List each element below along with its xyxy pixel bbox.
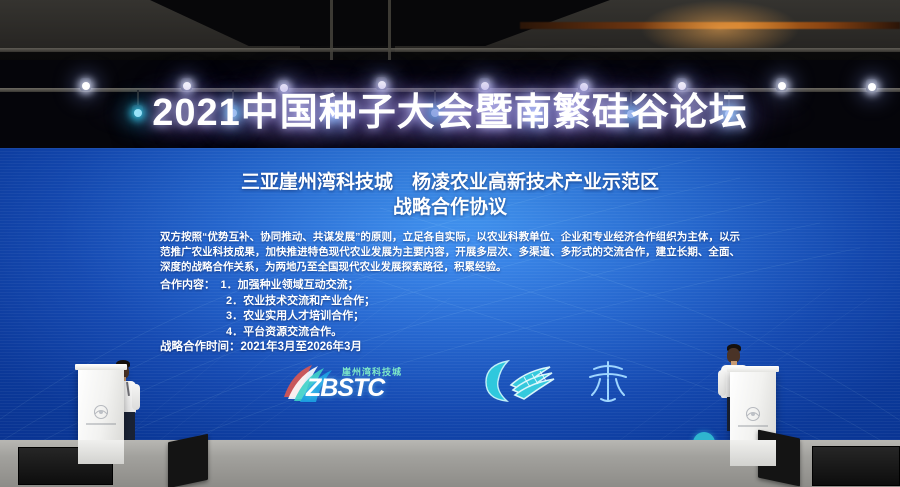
ceiling-column-right [388, 0, 391, 60]
calligraphy-logo [578, 357, 638, 407]
yangling-leaf-logo [478, 355, 568, 407]
ceiling-column-left [330, 0, 333, 60]
led-headline-line2: 战略合作协议 [0, 195, 900, 220]
led-body-paragraph: 双方按照“优势互补、协同推动、共谋发展”的原则，立足各自实际，以农业科教单位、企… [160, 230, 740, 275]
podium-left-emblem-icon [88, 404, 114, 422]
led-cooperation-list: 合作内容： 1．加强种业领域互动交流； 2．农业技术交流和产业合作； 3．农业实… [160, 278, 740, 340]
stage-monitor-left [168, 434, 208, 487]
list-item: 3．农业实用人才培训合作； [160, 309, 740, 325]
floor-speaker-right-outer [812, 446, 900, 486]
list-item: 合作内容： 1．加强种业领域互动交流； [160, 278, 740, 294]
list-item: 2．农业技术交流和产业合作； [160, 294, 740, 310]
stage-photograph: 2021中国种子大会暨南繁硅谷论坛 三亚崖州湾科技城 杨凌 [0, 0, 900, 487]
speaker-left-arm [132, 384, 140, 410]
podium-right-top [727, 366, 779, 372]
podium-left-base [78, 440, 124, 464]
banner-title: 2021中国种子大会暨南繁硅谷论坛 [0, 84, 900, 142]
speaker-right-arm-left [718, 370, 726, 396]
led-screen: 三亚崖州湾科技城 杨凌农业高新技术产业示范区 战略合作协议 双方按照“优势互补、… [0, 148, 900, 440]
led-headline-line1: 三亚崖州湾科技城 杨凌农业高新技术产业示范区 [241, 172, 659, 193]
wheat-emblem-icon [478, 355, 568, 407]
szbstc-latin-text: ZBSTC [306, 374, 384, 403]
led-timeframe: 战略合作时间：2021年3月至2026年3月 [160, 338, 362, 354]
banner: 2021中国种子大会暨南繁硅谷论坛 [0, 84, 900, 146]
podium-left [78, 368, 124, 440]
podium-left-emblem-text [86, 423, 116, 425]
podium-right [730, 370, 776, 440]
podium-right-emblem-icon [740, 406, 766, 424]
warm-light-glow [640, 0, 800, 48]
szbstc-logo: 崖州湾科技城 ZBSTC [278, 357, 418, 405]
truss-bar-upper [0, 48, 900, 52]
podium-right-base [730, 440, 776, 466]
calligraphy-mark-icon [578, 357, 638, 407]
podium-left-top [75, 364, 127, 370]
led-headline: 三亚崖州湾科技城 杨凌农业高新技术产业示范区 战略合作协议 [0, 170, 900, 220]
podium-right-emblem-text [738, 425, 768, 427]
